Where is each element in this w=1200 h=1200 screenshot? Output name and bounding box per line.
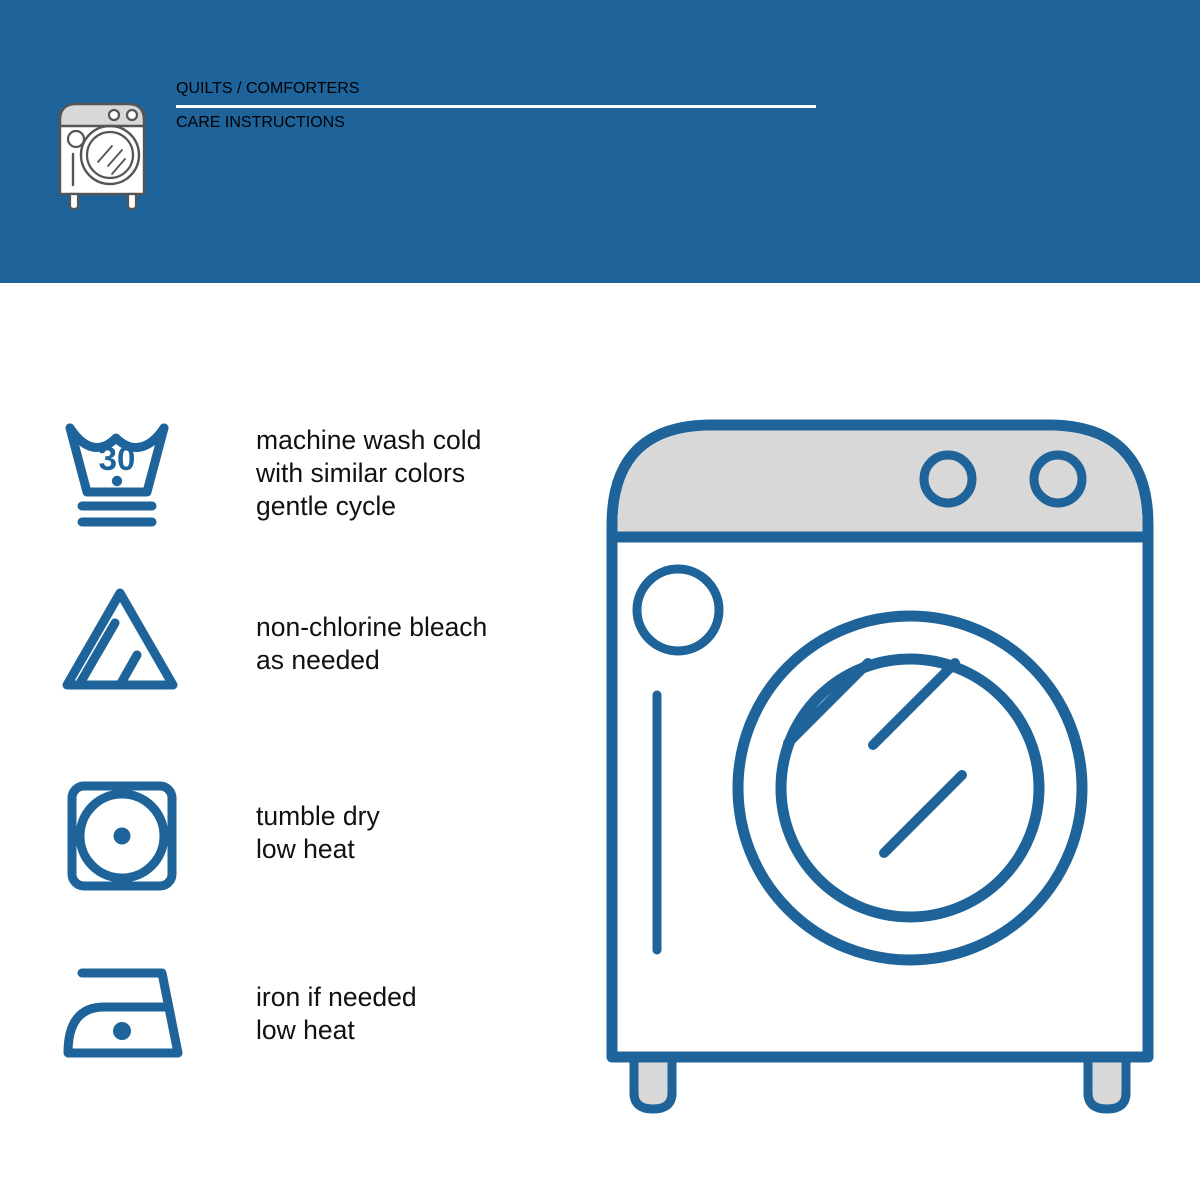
care-instruction-text: machine wash cold with similar colors ge… [256,416,481,523]
page-title-primary: QUILTS / COMFORTERS [176,80,816,98]
care-instruction-item: tumble dry low heat [60,778,540,898]
care-instruction-text: non-chlorine bleach as needed [256,583,487,677]
care-instruction-text: iron if needed low heat [256,953,417,1047]
care-instruction-item: iron if needed low heat [60,953,540,1073]
svg-text:30: 30 [99,440,136,477]
bleach-triangle-icon [60,583,188,703]
washing-machine-icon [52,82,156,212]
washing-machine-illustration [600,405,1160,1120]
washer-dial [637,569,719,651]
care-instruction-item: non-chlorine bleach as needed [60,583,540,703]
wash-basin-icon: 30 [60,416,188,536]
page-title-secondary: CARE INSTRUCTIONS [176,114,816,132]
header-bar: QUILTS / COMFORTERS CARE INSTRUCTIONS [0,0,1200,283]
care-instruction-list: 30 machine wash cold with similar colors… [0,283,560,1200]
washer-knob [924,455,972,503]
care-instruction-text: tumble dry low heat [256,778,380,866]
iron-icon [60,953,188,1073]
header-title-block: QUILTS / COMFORTERS CARE INSTRUCTIONS [176,78,816,132]
tumble-dry-icon [60,778,188,898]
care-instruction-item: 30 machine wash cold with similar colors… [60,416,540,536]
title-divider [176,105,816,108]
washer-knob [1034,455,1082,503]
header-content: QUILTS / COMFORTERS CARE INSTRUCTIONS [52,78,816,212]
